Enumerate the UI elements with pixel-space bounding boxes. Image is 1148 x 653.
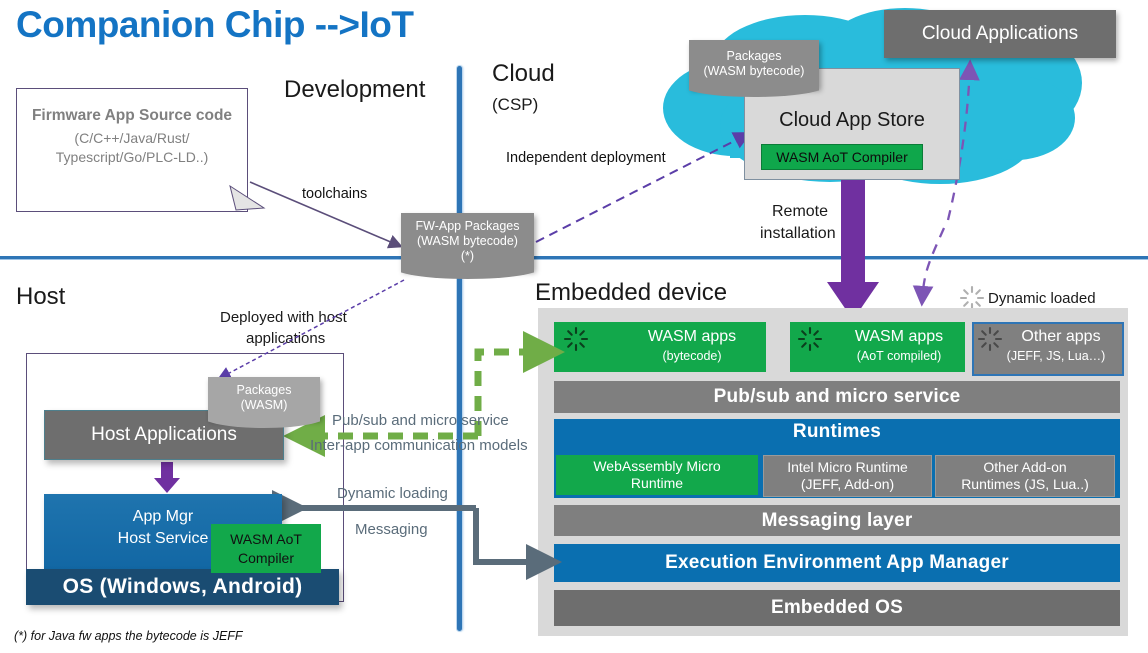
section-heading-host: Host: [16, 283, 65, 311]
runtime-wasm-micro: WebAssembly Micro Runtime: [556, 455, 758, 495]
spinner-icon: [798, 327, 822, 351]
host-wasm-aot-l1: WASM AoT: [230, 530, 302, 549]
embedded-exec-env-bar: Execution Environment App Manager: [554, 544, 1120, 582]
embedded-messaging-layer-bar: Messaging layer: [554, 505, 1120, 536]
host-applications-label: Host Applications: [91, 424, 237, 446]
section-subheading-csp: (CSP): [492, 95, 538, 115]
runtime-other-addon: Other Add-on Runtimes (JS, Lua..): [935, 455, 1115, 497]
cloud-app-store-title: Cloud App Store: [745, 109, 959, 132]
cloud-applications-label: Cloud Applications: [922, 23, 1078, 45]
section-heading-cloud: Cloud: [492, 60, 555, 88]
cloud-wasm-aot-compiler: WASM AoT Compiler: [761, 144, 923, 170]
runtime-intel-micro-l2: (JEFF, Add-on): [801, 476, 894, 493]
label-remote-installation-2: installation: [760, 225, 836, 243]
host-packages-tag: Packages (WASM): [208, 377, 320, 419]
slide-canvas: Companion Chip -->IoT Development Cloud …: [0, 0, 1148, 653]
firmware-source-langs-1: (C/C++/Java/Rust/: [17, 130, 247, 146]
runtime-other-addon-l2: Runtimes (JS, Lua..): [961, 476, 1089, 493]
runtime-wasm-micro-l2: Runtime: [631, 475, 683, 492]
host-wasm-aot-l2: Compiler: [238, 549, 294, 568]
host-packages-line1: Packages: [237, 383, 292, 398]
label-remote-installation-1: Remote: [772, 203, 828, 221]
cloud-packages-line2: (WASM bytecode): [704, 64, 805, 79]
fw-app-packages-tag: FW-App Packages (WASM bytecode) (*): [401, 213, 534, 270]
embedded-os-label: Embedded OS: [771, 597, 903, 619]
footnote: (*) for Java fw apps the bytecode is JEF…: [14, 629, 243, 643]
tag-curve-decoration: [401, 267, 534, 279]
label-dynamic-loading: Dynamic loading: [337, 485, 448, 502]
remote-installation-arrow: [825, 170, 881, 322]
embedded-app-other-sub: (JEFF, JS, Lua…): [994, 349, 1118, 363]
embedded-app-wasm-aot-name: WASM apps: [834, 328, 964, 346]
host-wasm-aot-compiler: WASM AoT Compiler: [211, 524, 321, 573]
section-heading-development: Development: [284, 76, 425, 104]
embedded-pubsub-label: Pub/sub and micro service: [714, 386, 961, 408]
cloud-wasm-aot-compiler-label: WASM AoT Compiler: [776, 149, 907, 165]
embedded-app-wasm-bytecode-sub: (bytecode): [622, 349, 762, 363]
label-pubsub-micro-service: Pub/sub and micro service: [332, 412, 509, 429]
embedded-os-bar: Embedded OS: [554, 590, 1120, 626]
label-dynamic-loaded: Dynamic loaded: [988, 290, 1096, 307]
independent-deployment-arrow: [534, 128, 764, 248]
spinner-icon: [978, 327, 1002, 351]
runtime-other-addon-l1: Other Add-on: [983, 459, 1066, 476]
cloud-packages-line1: Packages: [727, 49, 782, 64]
embedded-runtimes-title: Runtimes: [554, 419, 1120, 445]
label-independent-deployment: Independent deployment: [506, 150, 666, 166]
fw-packages-line3: (*): [461, 249, 474, 264]
label-inter-app-models: Inter-app communication models: [310, 437, 528, 454]
pubsub-green-dashed-arrows: [282, 340, 567, 445]
page-title: Companion Chip -->IoT: [16, 2, 636, 48]
host-os-label: OS (Windows, Android): [63, 575, 303, 599]
runtime-intel-micro: Intel Micro Runtime (JEFF, Add-on): [763, 455, 932, 497]
firmware-source-box: Firmware App Source code (C/C++/Java/Rus…: [16, 88, 248, 212]
dynamic-loaded-spinner-icon: [960, 286, 984, 310]
cloud-applications-box: Cloud Applications: [884, 10, 1116, 58]
firmware-source-title: Firmware App Source code: [17, 107, 247, 125]
runtime-wasm-micro-l1: WebAssembly Micro: [593, 458, 720, 475]
fw-packages-line1: FW-App Packages: [416, 219, 520, 234]
host-apps-to-appmgr-arrow: [153, 462, 181, 494]
host-os-bar: OS (Windows, Android): [26, 569, 339, 605]
label-messaging: Messaging: [355, 521, 428, 538]
fw-packages-line2: (WASM bytecode): [417, 234, 518, 249]
embedded-app-wasm-aot-sub: (AoT compiled): [834, 349, 964, 363]
cloud-packages-tag: Packages (WASM bytecode): [689, 40, 819, 88]
host-packages-line2: (WASM): [241, 398, 288, 413]
spinner-icon: [564, 327, 588, 351]
runtime-intel-micro-l1: Intel Micro Runtime: [787, 459, 908, 476]
firmware-source-langs-2: Typescript/Go/PLC-LD..): [17, 149, 247, 165]
embedded-pubsub-bar: Pub/sub and micro service: [554, 381, 1120, 413]
label-toolchains: toolchains: [302, 186, 367, 202]
embedded-messaging-layer-label: Messaging layer: [762, 510, 913, 532]
embedded-exec-env-label: Execution Environment App Manager: [665, 552, 1009, 574]
embedded-app-other-name: Other apps: [1004, 328, 1118, 346]
embedded-app-wasm-bytecode-name: WASM apps: [622, 328, 762, 346]
section-heading-embedded-device: Embedded device: [535, 279, 727, 307]
